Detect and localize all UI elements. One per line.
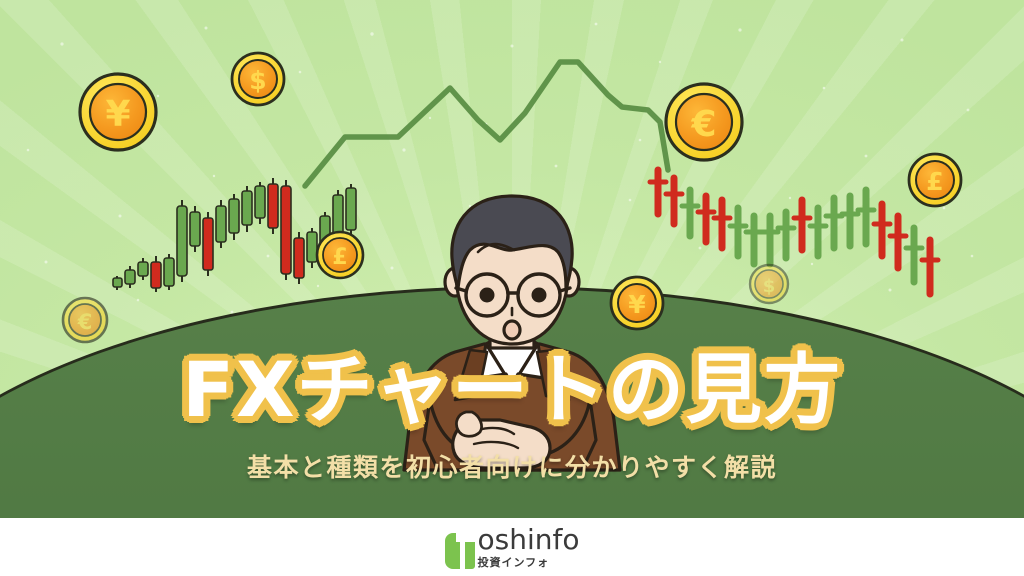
page-title: FXチャートの見方 [178, 352, 846, 428]
site-logo[interactable]: oshinfo 投資インフォ [445, 526, 580, 569]
footer-bar: oshinfo 投資インフォ [0, 518, 1024, 576]
logo-subtitle: 投資インフォ [478, 557, 580, 568]
logo-name: oshinfo [478, 526, 580, 554]
logo-t-mark-icon [445, 533, 475, 569]
thumbnail-banner: ¥ $ £ € € £ [0, 0, 1024, 576]
logo-text-group: oshinfo 投資インフォ [478, 526, 580, 569]
page-subtitle: 基本と種類を初心者向けに分かりやすく解説 [0, 448, 1024, 484]
title-block: FXチャートの見方 基本と種類を初心者向けに分かりやすく解説 [0, 352, 1024, 484]
